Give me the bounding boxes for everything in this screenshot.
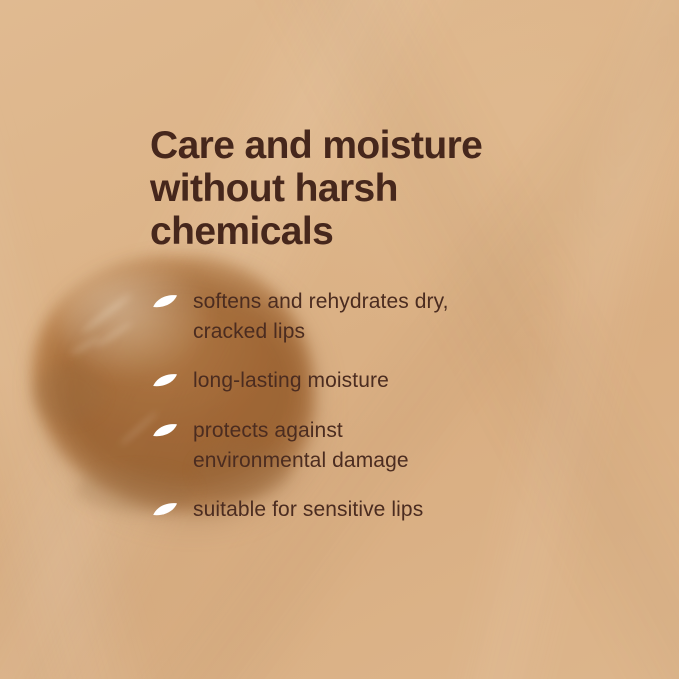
leaf-icon: [150, 367, 180, 397]
list-item-label: softens and rehydrates dry, cracked lips: [193, 287, 449, 347]
content-layer: Care and moisture without harsh chemical…: [0, 0, 679, 679]
leaf-icon: [150, 417, 180, 447]
benefit-list: softens and rehydrates dry, cracked lips…: [150, 287, 570, 526]
list-item: softens and rehydrates dry, cracked lips: [150, 287, 570, 347]
list-item-label: suitable for sensitive lips: [193, 495, 423, 525]
list-item-label: long-lasting moisture: [193, 366, 389, 396]
list-item: protects against environmental damage: [150, 416, 570, 476]
leaf-icon: [150, 288, 180, 318]
headline: Care and moisture without harsh chemical…: [150, 124, 570, 253]
list-item: suitable for sensitive lips: [150, 495, 570, 526]
list-item-label: protects against environmental damage: [193, 416, 409, 476]
list-item: long-lasting moisture: [150, 366, 570, 397]
leaf-icon: [150, 496, 180, 526]
product-benefits-graphic: Care and moisture without harsh chemical…: [0, 0, 679, 679]
